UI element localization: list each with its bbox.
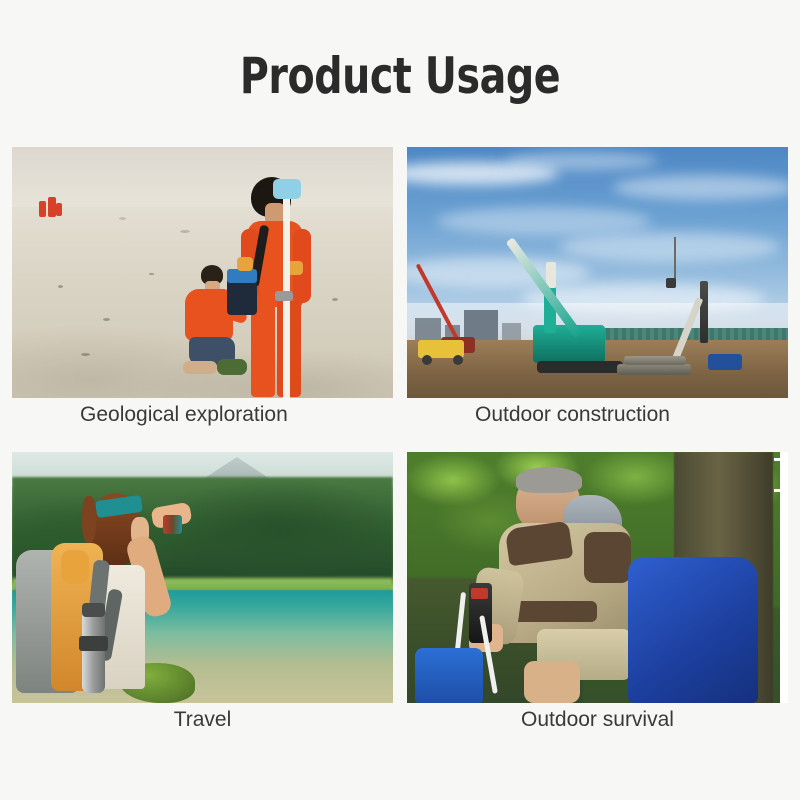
standing-surveyor <box>241 177 327 398</box>
caption-outdoor-survival: Outdoor survival <box>407 703 788 737</box>
usage-cell-travel: Travel <box>12 452 393 737</box>
steel-pipe-stack <box>624 356 686 365</box>
cloud <box>559 232 780 262</box>
distant-figures <box>39 195 65 219</box>
secondary-mast <box>700 281 708 343</box>
desert-horizon <box>12 147 393 212</box>
cloud <box>437 207 650 235</box>
cloud <box>506 152 658 170</box>
gravel-speck <box>103 318 110 321</box>
caption-outdoor-construction: Outdoor construction <box>407 398 788 432</box>
blue-backpack <box>628 557 758 703</box>
gravel-speck <box>332 298 338 301</box>
usage-cell-geological-exploration: Geological exploration <box>12 147 393 432</box>
bracket-artifact-icon <box>774 458 786 492</box>
usage-cell-outdoor-construction: Outdoor construction <box>407 147 788 432</box>
gravel-speck <box>58 285 63 288</box>
caption-travel: Travel <box>12 703 393 737</box>
site-vehicle <box>708 354 742 370</box>
crane-hook <box>666 278 676 288</box>
page-title: Product Usage <box>48 48 752 104</box>
photo-travel <box>12 452 393 703</box>
usage-cell-outdoor-survival: Outdoor survival <box>407 452 788 737</box>
cloud <box>613 175 788 200</box>
product-usage-grid: Geological exploration <box>12 147 788 767</box>
hiker-figure <box>12 465 187 703</box>
crane-cable <box>674 237 676 283</box>
cloud <box>407 257 590 287</box>
gravel-speck <box>81 353 90 356</box>
gravel-speck <box>180 230 190 233</box>
photo-geological-exploration <box>12 147 393 398</box>
photo-outdoor-construction <box>407 147 788 398</box>
blue-water-reservoir <box>415 648 484 703</box>
steel-pipe-stack <box>617 364 691 375</box>
rig-track <box>537 361 623 373</box>
caption-geological-exploration: Geological exploration <box>12 398 393 432</box>
photo-outdoor-survival <box>407 452 788 703</box>
gravel-speck <box>149 273 154 275</box>
